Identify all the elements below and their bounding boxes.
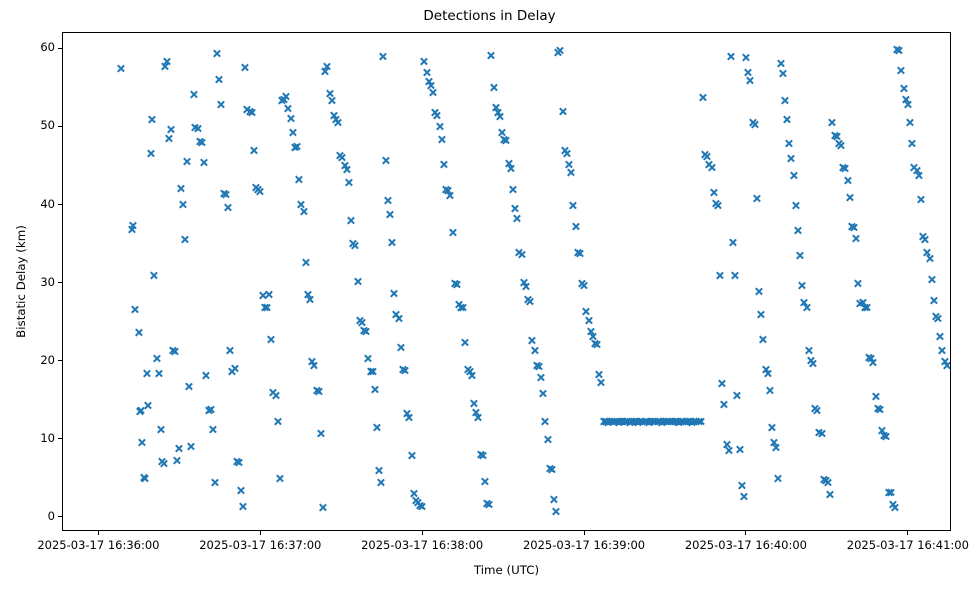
x-axis-tick: [584, 531, 585, 535]
x-axis-tick-label: 2025-03-17 16:41:00: [808, 538, 979, 552]
x-axis-tick: [98, 531, 99, 535]
matplotlib-figure: Detections in Delay 0102030405060 2025-0…: [0, 0, 979, 590]
y-axis-label: Bistatic Delay (km): [14, 32, 30, 531]
x-axis-tick: [422, 531, 423, 535]
x-axis-tick: [745, 531, 746, 535]
x-axis-tick: [907, 531, 908, 535]
x-axis-tick: [260, 531, 261, 535]
x-axis-label: Time (UTC): [62, 563, 951, 577]
x-axis-ticks: 2025-03-17 16:36:002025-03-17 16:37:0020…: [0, 0, 979, 590]
